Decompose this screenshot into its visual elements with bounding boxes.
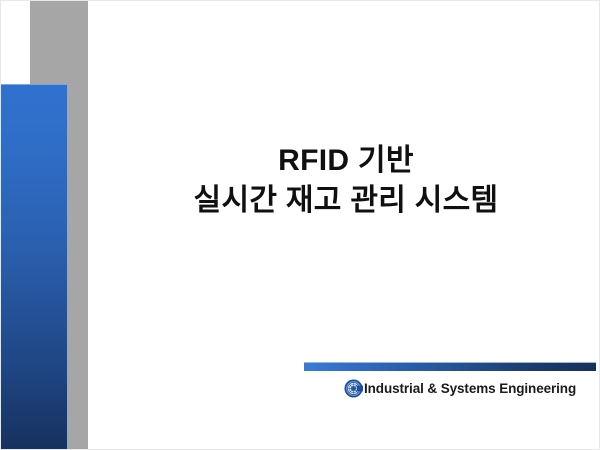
university-seal-icon (344, 379, 363, 398)
presentation-slide: RFID 기반 실시간 재고 관리 시스템 Industrial (0, 0, 600, 450)
title-line-1: RFID 기반 (101, 141, 591, 181)
blue-vertical-bar (1, 84, 68, 450)
title-line-2: 실시간 재고 관리 시스템 (101, 181, 591, 221)
footer-divider-rule (304, 362, 596, 371)
footer-organization-label: Industrial & Systems Engineering (364, 381, 576, 396)
footer: Industrial & Systems Engineering (304, 376, 596, 400)
slide-title: RFID 기반 실시간 재고 관리 시스템 (101, 141, 591, 221)
